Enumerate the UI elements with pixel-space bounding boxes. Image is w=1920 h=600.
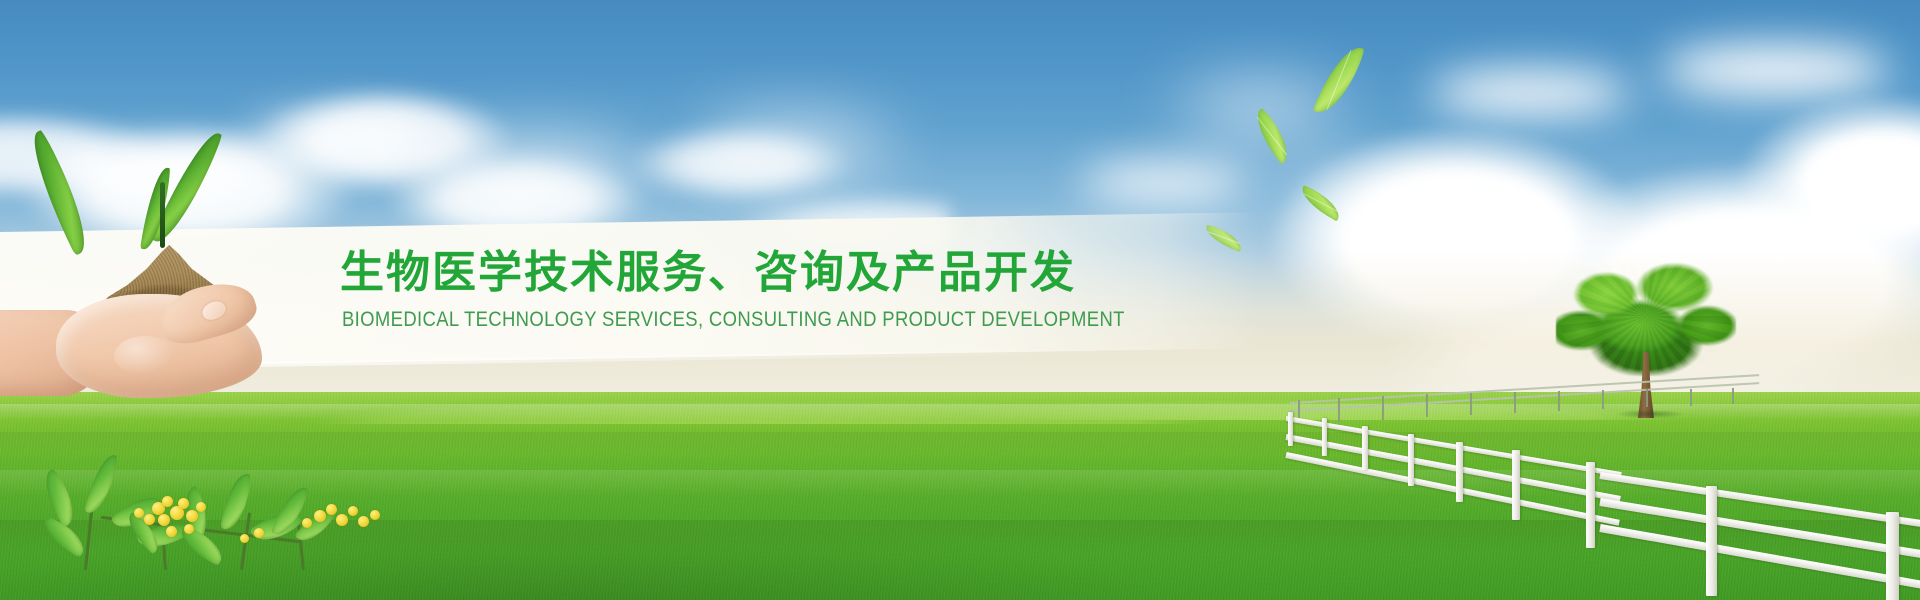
cloud-icon <box>1080 165 1250 201</box>
fence-rail <box>1599 524 1920 591</box>
flower-petal <box>370 510 380 520</box>
banner-image: 生物医学技术服务、咨询及产品开发 BIOMEDICAL TECHNOLOGY S… <box>0 0 1920 600</box>
flower-petal <box>196 502 206 512</box>
flower-petal <box>144 514 155 525</box>
flower-petal <box>254 528 264 538</box>
knuckle-highlight <box>114 336 176 376</box>
fence-rail <box>1599 472 1920 529</box>
plant-leaf <box>84 451 118 516</box>
far-fence <box>1290 386 1770 422</box>
far-fence-post <box>1338 398 1340 422</box>
fence-post <box>1706 486 1717 596</box>
far-fence-post <box>1646 389 1648 407</box>
cloud-icon <box>430 150 640 194</box>
hand-with-seedling-icon <box>0 228 294 428</box>
fence-post <box>1408 434 1414 486</box>
cloud-icon <box>1660 46 1890 94</box>
banner-text-block: 生物医学技术服务、咨询及产品开发 BIOMEDICAL TECHNOLOGY S… <box>340 246 1240 332</box>
flower-petal <box>314 510 326 522</box>
far-fence-post <box>1690 389 1692 406</box>
far-fence-post <box>1732 388 1734 404</box>
fence-post <box>1322 418 1327 456</box>
fence-post <box>1456 442 1463 502</box>
flower-petal <box>186 510 198 522</box>
flower-petal <box>184 524 194 534</box>
flower-petal <box>348 506 358 516</box>
far-fence-post <box>1382 396 1384 420</box>
flower-petal <box>336 514 348 526</box>
flower-petal <box>158 514 170 526</box>
cloud-icon <box>700 128 890 166</box>
cloud-icon <box>1430 72 1630 114</box>
far-fence-post <box>1426 394 1428 417</box>
far-fence-post <box>1470 393 1472 415</box>
fence-post <box>1512 450 1520 520</box>
flower-petal <box>326 504 337 515</box>
fence-icon <box>1300 386 1920 600</box>
fence-post <box>1886 512 1899 600</box>
flower-petal <box>240 534 249 543</box>
flower-petal <box>178 498 189 509</box>
far-fence-post <box>1602 390 1604 409</box>
far-fence-post <box>1514 392 1516 413</box>
cloud-icon <box>250 120 430 160</box>
fence-post <box>1362 426 1368 470</box>
flower-petal <box>302 518 312 528</box>
far-fence-post <box>1558 391 1560 411</box>
fence-rail <box>1599 498 1920 560</box>
flower-petal <box>134 508 144 518</box>
fence-post <box>1288 412 1293 446</box>
flower-petal <box>358 516 369 527</box>
seedling-stem <box>160 182 165 248</box>
page-subtitle: BIOMEDICAL TECHNOLOGY SERVICES, CONSULTI… <box>342 307 1132 332</box>
flower-petal <box>166 526 177 537</box>
page-title: 生物医学技术服务、咨询及产品开发 <box>340 246 1240 301</box>
fence-post <box>1586 462 1595 548</box>
flower-clump-icon <box>44 442 404 600</box>
flower-petal <box>162 496 173 507</box>
